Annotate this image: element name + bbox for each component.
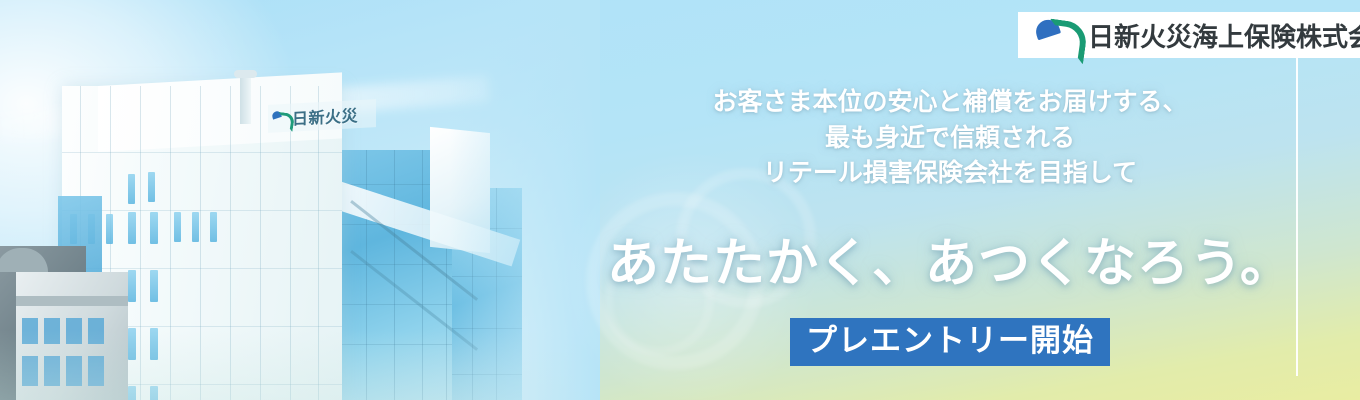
left-building-ledge [16,296,128,306]
building-sign-logo-icon [272,111,288,126]
tagline-line-2: 最も身近で信頼される [825,120,1075,156]
tagline-line-1: お客さま本位の安心と補償をお届けする、 [712,84,1187,120]
hero-copy-block: お客さま本位の安心と補償をお届けする、 最も身近で信頼される リテール損害保険会… [600,0,1300,400]
headquarters-building-photo: 日新火災 [0,0,600,400]
roof-antenna-cap [234,70,257,78]
pre-entry-button[interactable]: プレエントリー開始 [790,318,1110,367]
recruit-hero-banner: 日新火災 日新火災海上保険株式会社 お客さま本位の安心と補償をお届けする、 最も… [0,0,1360,400]
photo-edge-fade [450,0,600,400]
tagline-line-3: リテール損害保険会社を目指して [763,155,1137,191]
building-sign-text: 日新火災 [292,102,358,129]
hero-headline: あたたかく、あつくなろう。 [607,221,1293,296]
building-rooftop-sign: 日新火災 [268,99,376,133]
